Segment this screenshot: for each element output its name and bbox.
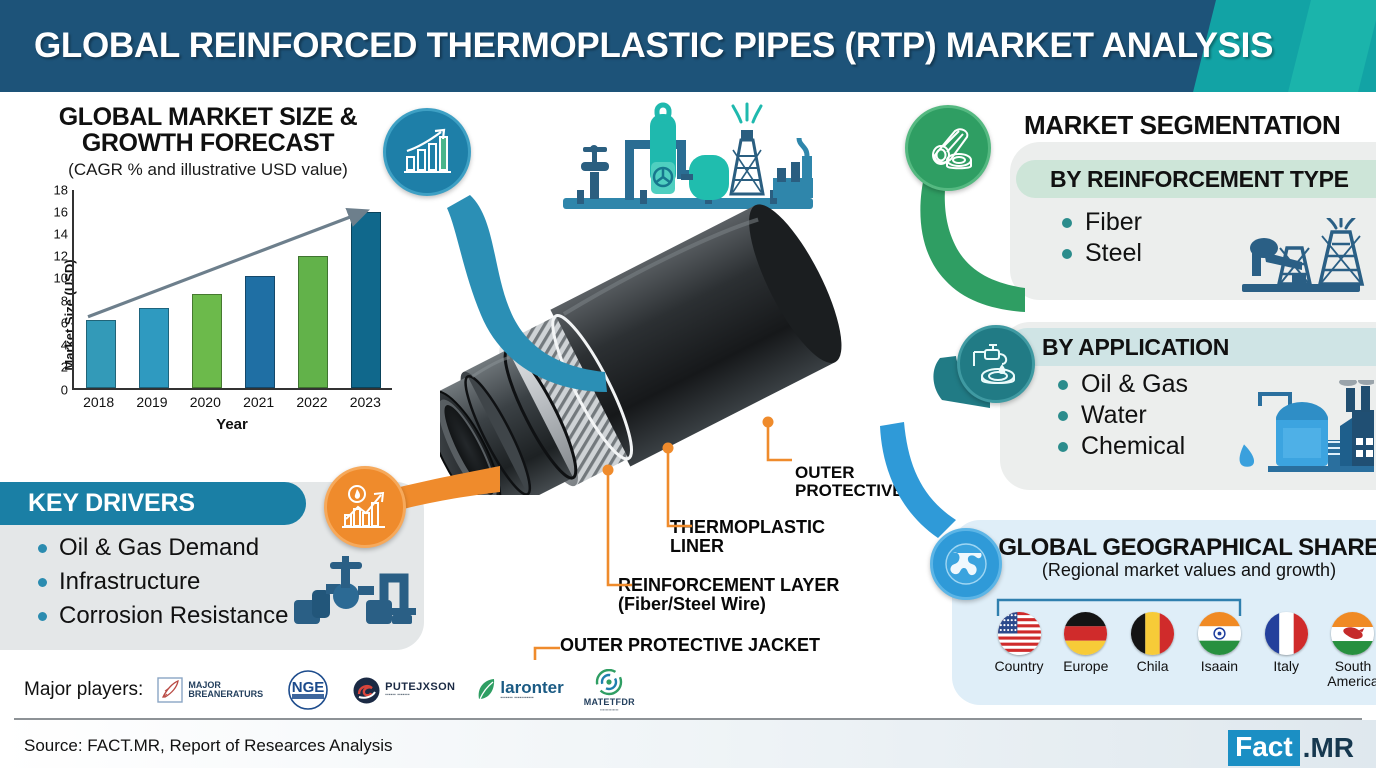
logo-matetfdr-text: MATETFDR — [584, 697, 635, 707]
geography-flag-label: Italy — [1255, 659, 1317, 674]
chart-y-tick: 16 — [54, 204, 68, 219]
chart-y-tick: 18 — [54, 182, 68, 197]
geography-flags: CountryEuropeChilaIsaainItalySouth Ameri… — [988, 612, 1376, 688]
bar-growth-icon — [401, 127, 453, 177]
chart-y-tick: 2 — [61, 360, 68, 375]
reinforcement-item: Steel — [1062, 239, 1242, 268]
geography-flag-cell[interactable]: South America — [1322, 612, 1376, 688]
chart-growth-bubble[interactable] — [383, 108, 471, 196]
geography-flag-cell[interactable]: Italy — [1255, 612, 1317, 688]
geography-flag-label: Chila — [1122, 659, 1184, 674]
logo-nge[interactable]: NGE — [283, 668, 333, 712]
chart-x-tick: 2019 — [130, 394, 174, 410]
chart-x-tick: 2018 — [77, 394, 121, 410]
market-segmentation-title: MARKET SEGMENTATION — [1024, 110, 1340, 141]
logo-laronter[interactable]: laronter ▪▪▪▪▪▪▪ ▪▪▪▪▪▪▪▪▪▪▪ — [475, 677, 563, 703]
bullet-dot — [38, 578, 47, 587]
by-application-heading: BY APPLICATION — [1042, 334, 1229, 361]
chart-bar — [192, 294, 222, 387]
chart-bar — [86, 320, 116, 388]
key-driver-label: Corrosion Resistance — [59, 602, 288, 630]
chart-subtitle: (CAGR % and illustrative USD value) — [18, 160, 398, 180]
reinforcement-label: Fiber — [1085, 208, 1142, 237]
key-driver-label: Infrastructure — [59, 568, 200, 596]
oil-rig-icon — [1232, 218, 1372, 298]
nge-logo-icon: NGE — [283, 668, 333, 712]
chart-y-tick: 8 — [61, 293, 68, 308]
logo-laronter-text: laronter — [500, 679, 563, 696]
factmr-mr: .MR — [1303, 732, 1354, 764]
chart-y-tick: 0 — [61, 382, 68, 397]
market-size-chart-panel: GLOBAL MARKET SIZE & GROWTH FORECAST (CA… — [18, 104, 398, 464]
by-reinforcement-header: BY REINFORCEMENT TYPE — [1016, 160, 1376, 198]
chart-y-tick: 14 — [54, 226, 68, 241]
source-text: Source: FACT.MR, Report of Researces Ana… — [24, 736, 392, 756]
wales-flag — [1331, 612, 1374, 655]
logo-matetfdr-sub: ▪▪▪▪▪▪▪▪▪▪▪▪▪ — [600, 707, 618, 712]
application-label: Oil & Gas — [1081, 370, 1188, 399]
header-banner: GLOBAL REINFORCED THERMOPLASTIC PIPES (R… — [0, 0, 1376, 92]
infographic-root: GLOBAL REINFORCED THERMOPLASTIC PIPES (R… — [0, 0, 1376, 768]
geography-bubble[interactable] — [930, 528, 1002, 600]
rocket-icon — [157, 677, 183, 703]
chart-x-tick: 2021 — [237, 394, 281, 410]
valve-pipe-icon — [288, 556, 418, 632]
chart-x-axis-label: Year — [72, 416, 392, 433]
geography-title: GLOBAL GEOGRAPHICAL SHARE — [992, 534, 1376, 562]
logo-major-breaneraturs[interactable]: MAJOR BREANERATURS — [157, 677, 263, 703]
chart-axes — [72, 190, 392, 390]
page-title: GLOBAL REINFORCED THERMOPLASTIC PIPES (R… — [34, 26, 1273, 66]
logo-putejxson[interactable]: PUTEJXSON ▪▪▪▪▪▪ ▪▪▪▪▪▪▪ — [353, 677, 455, 704]
growth-oil-icon — [340, 483, 390, 531]
application-bubble[interactable] — [957, 325, 1035, 403]
chart-plot-area: Market Size (USD) 024681012141618 201820… — [18, 190, 398, 440]
chart-title: GLOBAL MARKET SIZE & GROWTH FORECAST — [18, 104, 398, 157]
reinforcement-label: Steel — [1085, 239, 1142, 268]
key-drivers-heading: KEY DRIVERS — [28, 489, 195, 518]
nge-text: NGE — [292, 679, 325, 696]
geography-flag-cell[interactable]: Isaain — [1188, 612, 1250, 688]
swirl-icon — [353, 677, 380, 704]
bullet-dot — [38, 612, 47, 621]
bullet-dot — [1058, 411, 1068, 421]
chart-bar — [245, 276, 275, 387]
geography-flag-label: South America — [1322, 659, 1376, 688]
faucet-water-icon — [972, 342, 1020, 386]
chart-y-tick: 12 — [54, 249, 68, 264]
chart-x-tick: 2022 — [290, 394, 334, 410]
key-drivers-bubble[interactable] — [324, 466, 406, 548]
segmentation-bubble[interactable] — [905, 105, 991, 191]
chart-y-tick: 10 — [54, 271, 68, 286]
by-application-header: BY APPLICATION — [1008, 328, 1376, 366]
chart-bar — [139, 308, 169, 388]
logo-putejxson-sub: ▪▪▪▪▪▪ ▪▪▪▪▪▪▪ — [385, 693, 455, 698]
chemical-plant-icon — [1228, 380, 1374, 480]
chart-bar — [298, 256, 328, 387]
geography-flag-cell[interactable]: Country — [988, 612, 1050, 688]
logo-matetfdr[interactable]: MATETFDR ▪▪▪▪▪▪▪▪▪▪▪▪▪ — [584, 669, 635, 712]
bullet-dot — [38, 544, 47, 553]
application-label: Chemical — [1081, 432, 1185, 461]
major-players-label: Major players: — [24, 679, 143, 701]
bullet-dot — [1062, 249, 1072, 259]
factmr-fact: Fact — [1228, 730, 1300, 766]
key-drivers-header: KEY DRIVERS — [0, 482, 306, 525]
globe-icon — [943, 541, 989, 587]
geography-subtitle: (Regional market values and growth) — [992, 560, 1376, 581]
usa-flag — [998, 612, 1041, 655]
bullet-dot — [1062, 218, 1072, 228]
geography-flag-label: Country — [988, 659, 1050, 674]
india-flag — [1198, 612, 1241, 655]
bullet-dot — [1058, 442, 1068, 452]
chart-y-tick: 4 — [61, 338, 68, 353]
pipe-callout-leaders — [520, 330, 880, 660]
geography-flag-cell[interactable]: Europe — [1055, 612, 1117, 688]
swirl-circle-icon — [594, 669, 624, 697]
chart-bars — [74, 190, 392, 388]
key-driver-label: Oil & Gas Demand — [59, 534, 259, 562]
chart-y-ticks: 024681012141618 — [44, 190, 70, 390]
geography-flag-label: Isaain — [1188, 659, 1250, 674]
logo-major-line2: BREANERATURS — [188, 690, 263, 699]
belgium-flag — [1131, 612, 1174, 655]
france-flag — [1265, 612, 1308, 655]
factmr-logo[interactable]: Fact .MR — [1228, 730, 1354, 766]
geography-flag-label: Europe — [1055, 659, 1117, 674]
bullet-dot — [1058, 380, 1068, 390]
major-players-row: Major players: MAJOR BREANERATURS NGE — [24, 668, 655, 712]
leaf-icon — [475, 677, 497, 703]
application-label: Water — [1081, 401, 1147, 430]
by-reinforcement-heading: BY REINFORCEMENT TYPE — [1050, 166, 1349, 193]
geography-flag-cell[interactable]: Chila — [1122, 612, 1184, 688]
pipe-rolls-icon — [921, 123, 975, 173]
germany-flag — [1064, 612, 1107, 655]
chart-x-tick: 2020 — [183, 394, 227, 410]
by-reinforcement-list: FiberSteel — [1062, 208, 1242, 270]
chart-y-tick: 6 — [61, 315, 68, 330]
chart-x-ticks: 201820192020202120222023 — [72, 394, 392, 410]
reinforcement-item: Fiber — [1062, 208, 1242, 237]
